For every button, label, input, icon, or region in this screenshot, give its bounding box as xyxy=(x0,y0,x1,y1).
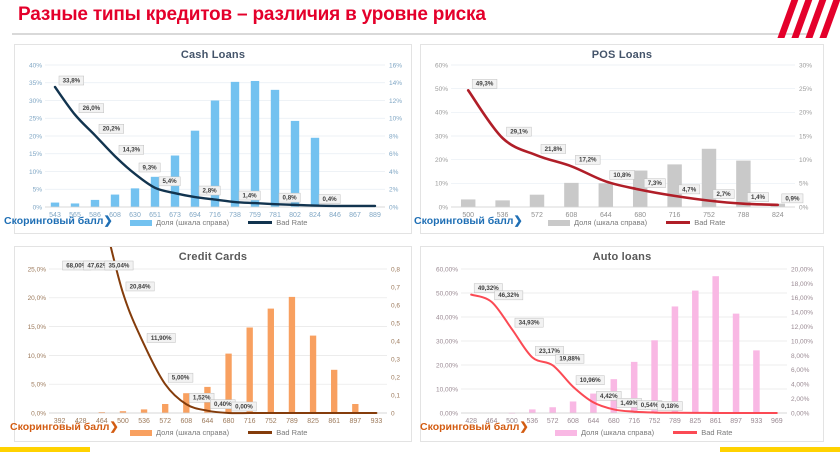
svg-text:12,00%: 12,00% xyxy=(791,324,813,331)
svg-text:608: 608 xyxy=(180,418,192,425)
legend-item-share: Доля (шкала справа) xyxy=(555,428,654,437)
svg-text:14%: 14% xyxy=(389,80,402,87)
svg-text:897: 897 xyxy=(730,418,742,425)
svg-text:897: 897 xyxy=(349,418,361,425)
svg-text:4%: 4% xyxy=(389,169,399,176)
svg-text:0%: 0% xyxy=(799,204,809,211)
svg-text:789: 789 xyxy=(286,418,298,425)
svg-text:644: 644 xyxy=(202,418,214,425)
svg-text:30,00%: 30,00% xyxy=(436,338,458,345)
svg-text:825: 825 xyxy=(689,418,701,425)
svg-text:572: 572 xyxy=(531,212,543,219)
svg-text:15%: 15% xyxy=(799,133,812,140)
svg-text:8,00%: 8,00% xyxy=(791,353,810,360)
svg-text:20,2%: 20,2% xyxy=(103,126,121,133)
svg-text:0,00%: 0,00% xyxy=(791,410,810,417)
svg-text:35%: 35% xyxy=(29,80,42,87)
svg-text:14,3%: 14,3% xyxy=(123,147,141,154)
bottom-accent-left xyxy=(0,447,90,452)
svg-text:572: 572 xyxy=(159,418,171,425)
svg-text:969: 969 xyxy=(771,418,783,425)
chart-plot-cash-loans: 0%5%10%15%20%25%30%35%40%0%2%4%6%8%10%12… xyxy=(15,45,413,235)
svg-text:0%: 0% xyxy=(439,204,449,211)
svg-text:0,9%: 0,9% xyxy=(785,195,800,202)
svg-text:0,00%: 0,00% xyxy=(440,410,459,417)
diagonal-stripes-logo-icon xyxy=(770,0,840,38)
svg-text:35,04%: 35,04% xyxy=(108,262,129,269)
svg-text:50%: 50% xyxy=(435,86,448,93)
x-axis-label-pos-loans: Скоринговый балл❯ xyxy=(414,214,523,227)
svg-text:20%: 20% xyxy=(799,110,812,117)
svg-text:8%: 8% xyxy=(389,133,399,140)
svg-text:26,0%: 26,0% xyxy=(83,105,101,112)
svg-text:10,00%: 10,00% xyxy=(791,338,813,345)
svg-text:10%: 10% xyxy=(435,181,448,188)
svg-text:18,00%: 18,00% xyxy=(791,281,813,288)
svg-text:30%: 30% xyxy=(799,62,812,69)
svg-text:19,88%: 19,88% xyxy=(559,356,580,363)
x-axis-label-cash-loans: Скоринговый балл❯ xyxy=(4,214,113,227)
svg-text:10,0%: 10,0% xyxy=(28,353,47,360)
legend-auto-loans: Доля (шкала справа) Bad Rate xyxy=(555,428,746,437)
svg-text:30%: 30% xyxy=(435,133,448,140)
svg-text:608: 608 xyxy=(567,418,579,425)
legend-item-badrate: Bad Rate xyxy=(666,218,725,227)
x-axis-label-auto-loans: Скоринговый балл❯ xyxy=(420,420,529,433)
svg-text:25%: 25% xyxy=(799,86,812,93)
svg-text:716: 716 xyxy=(628,418,640,425)
svg-text:49,3%: 49,3% xyxy=(476,81,494,88)
svg-text:9,3%: 9,3% xyxy=(143,164,158,171)
svg-text:50,00%: 50,00% xyxy=(436,290,458,297)
svg-text:20%: 20% xyxy=(435,157,448,164)
legend-item-share: Доля (шкала справа) xyxy=(130,218,229,227)
svg-text:20%: 20% xyxy=(29,133,42,140)
svg-text:789: 789 xyxy=(669,418,681,425)
legend-item-share: Доля (шкала справа) xyxy=(130,428,229,437)
svg-text:572: 572 xyxy=(547,418,559,425)
svg-text:15,0%: 15,0% xyxy=(28,324,47,331)
svg-text:933: 933 xyxy=(371,418,383,425)
svg-text:16,00%: 16,00% xyxy=(791,295,813,302)
legend-label-badrate: Bad Rate xyxy=(694,218,725,227)
svg-text:0,6: 0,6 xyxy=(391,302,400,309)
chart-plot-pos-loans: 0%10%20%30%40%50%60%0%5%10%15%20%25%30%5… xyxy=(421,45,825,235)
svg-text:21,8%: 21,8% xyxy=(545,146,563,153)
score-label-text: Скоринговый балл xyxy=(4,215,103,227)
svg-text:6%: 6% xyxy=(389,151,399,158)
svg-text:0,40%: 0,40% xyxy=(214,401,232,408)
svg-text:10,8%: 10,8% xyxy=(613,172,631,179)
svg-text:25,0%: 25,0% xyxy=(28,266,47,273)
svg-text:536: 536 xyxy=(138,418,150,425)
legend-label-badrate: Bad Rate xyxy=(276,428,307,437)
legend-item-badrate: Bad Rate xyxy=(248,218,307,227)
svg-text:4,7%: 4,7% xyxy=(682,186,697,193)
chevron-right-icon: ❯ xyxy=(519,421,528,433)
svg-text:20,0%: 20,0% xyxy=(28,295,47,302)
svg-text:867: 867 xyxy=(349,212,361,219)
svg-text:644: 644 xyxy=(588,418,600,425)
svg-text:17,2%: 17,2% xyxy=(579,157,597,164)
svg-text:861: 861 xyxy=(328,418,340,425)
svg-text:500: 500 xyxy=(117,418,129,425)
svg-text:0%: 0% xyxy=(389,204,399,211)
svg-text:0,2: 0,2 xyxy=(391,374,400,381)
score-label-text: Скоринговый балл xyxy=(10,421,109,433)
legend-swatch-share xyxy=(130,430,152,436)
svg-text:0,18%: 0,18% xyxy=(661,403,679,410)
svg-text:1,49%: 1,49% xyxy=(620,400,638,407)
svg-text:0,1: 0,1 xyxy=(391,392,400,399)
svg-text:2,00%: 2,00% xyxy=(791,396,810,403)
legend-swatch-badrate xyxy=(248,221,272,224)
legend-swatch-share xyxy=(548,220,570,226)
legend-pos-loans: Доля (шкала справа) Bad Rate xyxy=(548,218,739,227)
svg-text:0,8: 0,8 xyxy=(391,266,400,273)
svg-text:5%: 5% xyxy=(799,181,809,188)
chevron-right-icon: ❯ xyxy=(513,215,522,227)
svg-text:752: 752 xyxy=(649,418,661,425)
svg-text:40%: 40% xyxy=(29,62,42,69)
legend-item-badrate: Bad Rate xyxy=(673,428,732,437)
svg-text:889: 889 xyxy=(369,212,381,219)
svg-text:10%: 10% xyxy=(389,116,402,123)
legend-item-badrate: Bad Rate xyxy=(248,428,307,437)
svg-text:824: 824 xyxy=(772,212,784,219)
page-header: Разные типы кредитов – различия в уровне… xyxy=(0,0,840,38)
chart-panel-cash-loans: Cash Loans 0%5%10%15%20%25%30%35%40%0%2%… xyxy=(14,44,412,234)
legend-label-share: Доля (шкала справа) xyxy=(581,428,654,437)
svg-text:933: 933 xyxy=(751,418,763,425)
svg-text:5,00%: 5,00% xyxy=(172,375,190,382)
svg-text:0: 0 xyxy=(391,410,395,417)
svg-text:23,17%: 23,17% xyxy=(539,348,560,355)
svg-text:25%: 25% xyxy=(29,116,42,123)
svg-text:0,0%: 0,0% xyxy=(31,410,46,417)
chevron-right-icon: ❯ xyxy=(103,215,112,227)
score-label-text: Скоринговый балл xyxy=(420,421,519,433)
svg-text:0,5: 0,5 xyxy=(391,320,400,327)
legend-label-share: Доля (шкала справа) xyxy=(574,218,647,227)
svg-text:34,93%: 34,93% xyxy=(519,320,540,327)
svg-text:33,8%: 33,8% xyxy=(63,77,81,84)
svg-text:680: 680 xyxy=(223,418,235,425)
svg-text:20,00%: 20,00% xyxy=(791,266,813,273)
chevron-right-icon: ❯ xyxy=(109,421,118,433)
legend-cash-loans: Доля (шкала справа) Bad Rate xyxy=(130,218,321,227)
svg-text:5,4%: 5,4% xyxy=(163,178,178,185)
svg-text:825: 825 xyxy=(307,418,319,425)
legend-label-badrate: Bad Rate xyxy=(701,428,732,437)
legend-label-share: Доля (шкала справа) xyxy=(156,428,229,437)
svg-text:12%: 12% xyxy=(389,98,402,105)
svg-text:680: 680 xyxy=(608,418,620,425)
svg-text:0,7: 0,7 xyxy=(391,284,400,291)
svg-text:1,4%: 1,4% xyxy=(243,192,258,199)
svg-text:0,00%: 0,00% xyxy=(235,403,253,410)
svg-text:2,7%: 2,7% xyxy=(717,191,732,198)
svg-text:861: 861 xyxy=(710,418,722,425)
svg-text:0,8%: 0,8% xyxy=(283,195,298,202)
svg-text:10,96%: 10,96% xyxy=(580,377,601,384)
chart-plot-credit-cards: 0,0%5,0%10,0%15,0%20,0%25,0%00,10,20,30,… xyxy=(15,247,413,443)
svg-text:30%: 30% xyxy=(29,98,42,105)
svg-text:20,84%: 20,84% xyxy=(130,283,151,290)
legend-swatch-share xyxy=(130,220,152,226)
svg-text:0,54%: 0,54% xyxy=(641,402,659,409)
svg-text:15%: 15% xyxy=(29,151,42,158)
svg-text:0,4: 0,4 xyxy=(391,338,400,345)
svg-text:0,4%: 0,4% xyxy=(323,196,338,203)
svg-text:1,4%: 1,4% xyxy=(751,194,766,201)
score-label-text: Скоринговый балл xyxy=(414,215,513,227)
legend-swatch-badrate xyxy=(673,431,697,434)
svg-text:0,3: 0,3 xyxy=(391,356,400,363)
svg-text:2,8%: 2,8% xyxy=(203,187,218,194)
bottom-accent-right xyxy=(720,447,840,452)
legend-credit-cards: Доля (шкала справа) Bad Rate xyxy=(130,428,321,437)
svg-text:1,52%: 1,52% xyxy=(193,395,211,402)
svg-text:7,3%: 7,3% xyxy=(648,180,663,187)
header-divider xyxy=(12,33,812,35)
svg-text:60%: 60% xyxy=(435,62,448,69)
svg-text:4,00%: 4,00% xyxy=(791,382,810,389)
svg-text:40%: 40% xyxy=(435,110,448,117)
chart-panel-credit-cards: Credit Cards 0,0%5,0%10,0%15,0%20,0%25,0… xyxy=(14,246,412,442)
legend-swatch-badrate xyxy=(666,221,690,224)
svg-text:4,42%: 4,42% xyxy=(600,393,618,400)
svg-text:846: 846 xyxy=(329,212,341,219)
svg-text:10,00%: 10,00% xyxy=(436,386,458,393)
svg-text:6,00%: 6,00% xyxy=(791,367,810,374)
x-axis-label-credit-cards: Скоринговый балл❯ xyxy=(10,420,119,433)
svg-text:5%: 5% xyxy=(33,187,43,194)
svg-text:20,00%: 20,00% xyxy=(436,362,458,369)
svg-text:46,32%: 46,32% xyxy=(498,292,519,299)
svg-text:5,0%: 5,0% xyxy=(31,382,46,389)
chart-plot-auto-loans: 0,00%10,00%20,00%30,00%40,00%50,00%60,00… xyxy=(421,247,825,443)
svg-text:752: 752 xyxy=(265,418,277,425)
svg-text:10%: 10% xyxy=(799,157,812,164)
svg-text:0%: 0% xyxy=(33,204,43,211)
legend-swatch-share xyxy=(555,430,577,436)
svg-text:716: 716 xyxy=(244,418,256,425)
legend-label-badrate: Bad Rate xyxy=(276,218,307,227)
legend-swatch-badrate xyxy=(248,431,272,434)
page-title: Разные типы кредитов – различия в уровне… xyxy=(18,4,486,26)
svg-text:60,00%: 60,00% xyxy=(436,266,458,273)
legend-item-share: Доля (шкала справа) xyxy=(548,218,647,227)
legend-label-share: Доля (шкала справа) xyxy=(156,218,229,227)
svg-text:16%: 16% xyxy=(389,62,402,69)
svg-text:10%: 10% xyxy=(29,169,42,176)
chart-panel-auto-loans: Auto loans 0,00%10,00%20,00%30,00%40,00%… xyxy=(420,246,824,442)
svg-text:2%: 2% xyxy=(389,187,399,194)
svg-text:11,90%: 11,90% xyxy=(151,335,172,342)
chart-panel-pos-loans: POS Loans 0%10%20%30%40%50%60%0%5%10%15%… xyxy=(420,44,824,234)
svg-text:29,1%: 29,1% xyxy=(510,129,528,136)
svg-text:40,00%: 40,00% xyxy=(436,314,458,321)
svg-text:14,00%: 14,00% xyxy=(791,310,813,317)
